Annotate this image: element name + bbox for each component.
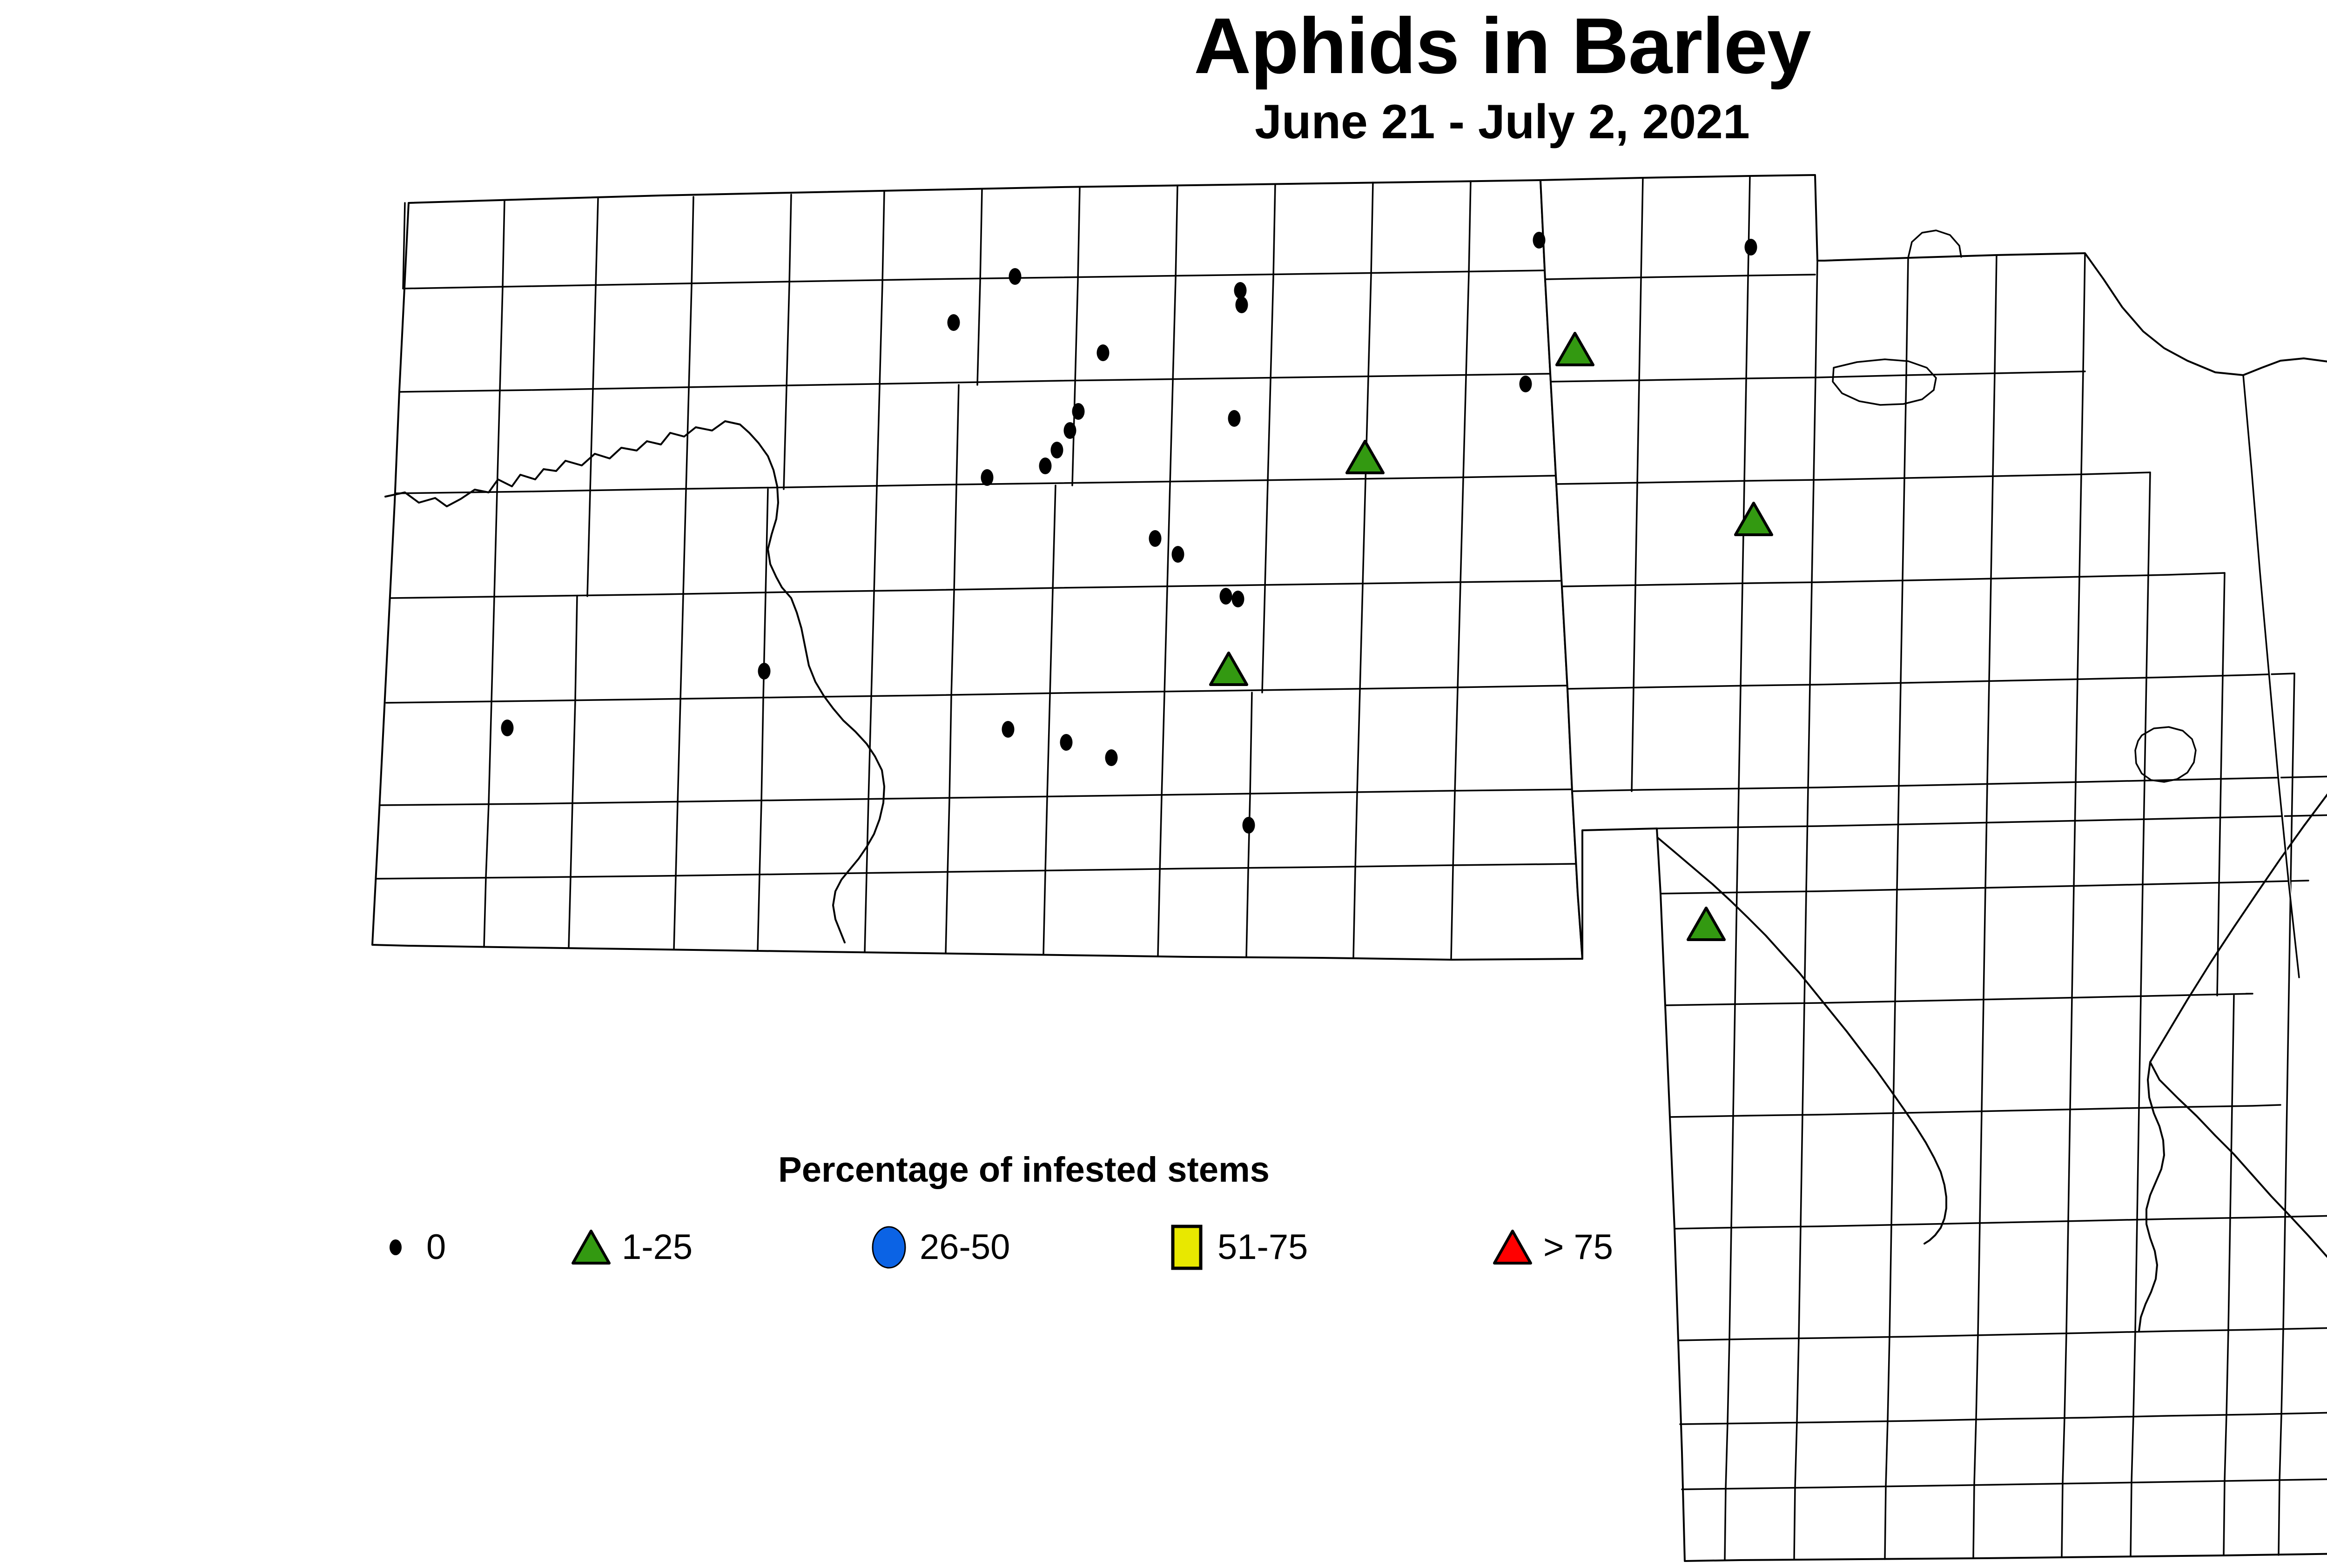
- map-marker-dot[interactable]: [948, 314, 960, 331]
- map-marker-dot[interactable]: [1228, 410, 1241, 427]
- map-marker-dot[interactable]: [501, 720, 514, 736]
- legend-title: Percentage of infested stems: [684, 1150, 1364, 1190]
- legend-item: 0: [368, 1219, 446, 1275]
- triangle-icon: [1493, 1229, 1533, 1266]
- legend-item-label: > 75: [1543, 1230, 1613, 1265]
- map-container[interactable]: [0, 0, 2327, 1568]
- legend-items: 01-2526-5051-75> 75: [368, 1219, 1857, 1275]
- legend-item-label: 0: [426, 1230, 446, 1265]
- circle-icon: [871, 1225, 907, 1270]
- map-marker-dot[interactable]: [758, 663, 771, 680]
- map-marker-triangle[interactable]: [1734, 501, 1774, 537]
- dot-icon: [390, 1239, 402, 1255]
- map-marker-dot[interactable]: [1051, 442, 1063, 458]
- legend-square-icon: [1159, 1224, 1215, 1271]
- state-county-map: [0, 0, 2327, 1568]
- map-marker-dot[interactable]: [1064, 422, 1076, 439]
- map-marker-dot[interactable]: [1172, 546, 1184, 563]
- map-marker-dot[interactable]: [1002, 721, 1015, 738]
- map-marker-dot[interactable]: [1533, 232, 1546, 249]
- legend-dot-icon: [368, 1239, 424, 1255]
- map-marker-dot[interactable]: [1236, 296, 1248, 313]
- triangle-icon: [571, 1229, 611, 1266]
- map-marker-dot[interactable]: [981, 469, 994, 486]
- map-marker-triangle[interactable]: [1686, 906, 1726, 942]
- map-marker-dot[interactable]: [1009, 268, 1022, 285]
- map-marker-dot[interactable]: [1105, 749, 1118, 766]
- map-marker-triangle[interactable]: [1555, 331, 1595, 367]
- map-marker-dot[interactable]: [1039, 458, 1052, 474]
- north-dakota-outline: [372, 180, 1582, 960]
- map-marker-dot[interactable]: [1149, 530, 1162, 547]
- map-marker-dot[interactable]: [1745, 239, 1757, 256]
- legend-item: 1-25: [563, 1219, 693, 1275]
- map-marker-dot[interactable]: [1520, 376, 1532, 392]
- legend-item: 51-75: [1159, 1219, 1308, 1275]
- map-page: Aphids in Barley June 21 - July 2, 2021: [0, 0, 2327, 1568]
- minnesota-outline: [1540, 175, 2327, 1561]
- legend-item-label: 1-25: [622, 1230, 693, 1265]
- map-marker-dot[interactable]: [1232, 591, 1244, 607]
- legend-item-label: 51-75: [1217, 1230, 1308, 1265]
- lake-of-the-woods: [1908, 230, 1961, 258]
- map-marker-dot[interactable]: [1072, 403, 1085, 420]
- map-marker-dot[interactable]: [1060, 734, 1073, 751]
- legend-triangle-icon: [563, 1229, 619, 1266]
- legend-item: 26-50: [861, 1219, 1010, 1275]
- legend-item: > 75: [1485, 1219, 1613, 1275]
- legend-item-label: 26-50: [920, 1230, 1010, 1265]
- map-marker-dot[interactable]: [1220, 588, 1232, 605]
- square-icon: [1170, 1224, 1203, 1271]
- map-marker-dot[interactable]: [1243, 817, 1255, 834]
- map-marker-triangle[interactable]: [1209, 651, 1249, 686]
- map-marker-triangle[interactable]: [1345, 439, 1385, 475]
- legend-triangle-icon: [1485, 1229, 1540, 1266]
- map-marker-dot[interactable]: [1097, 344, 1110, 361]
- legend-circle-icon: [861, 1225, 917, 1270]
